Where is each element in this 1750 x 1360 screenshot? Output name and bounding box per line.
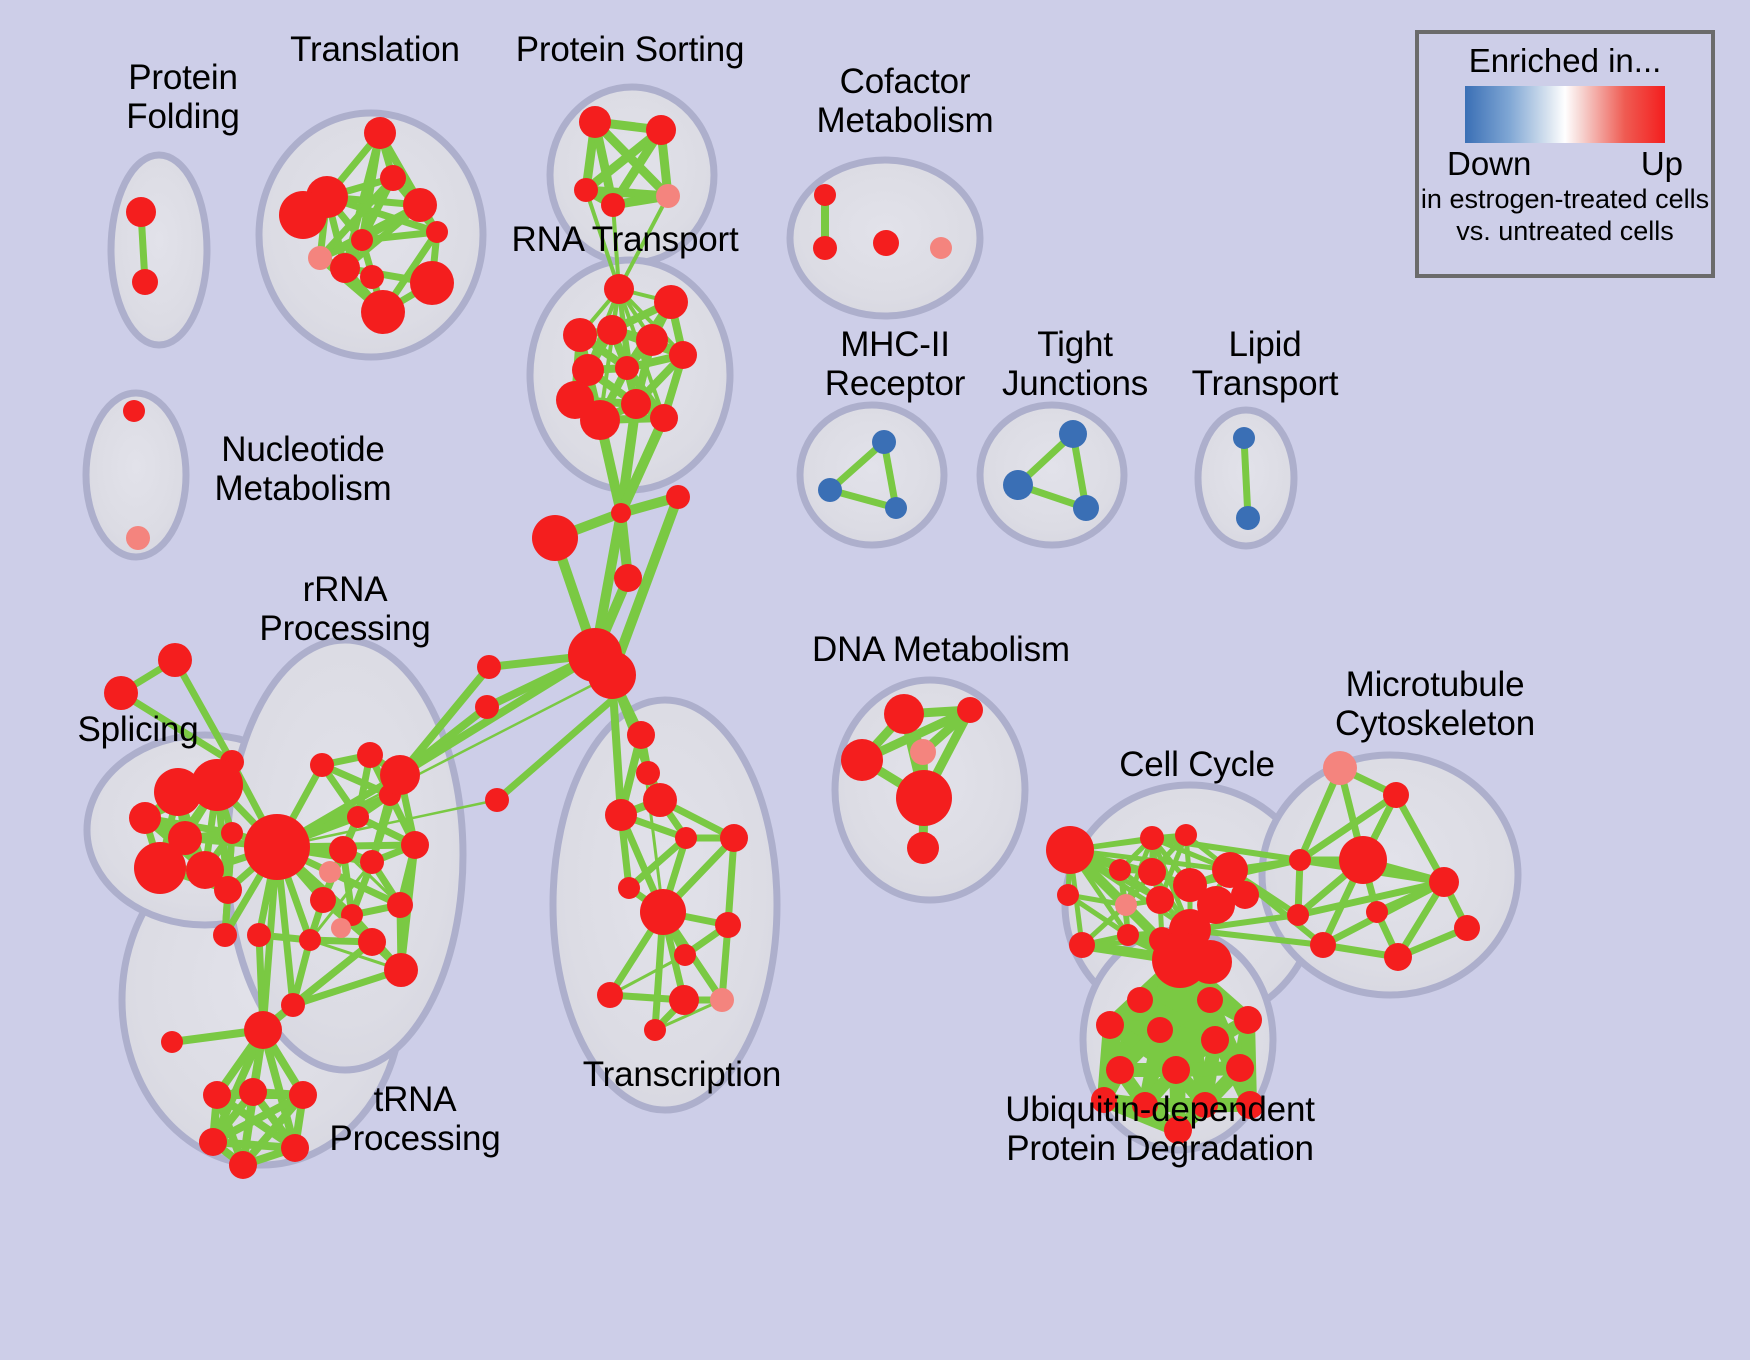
node (1003, 470, 1033, 500)
node (1106, 1056, 1134, 1084)
node (384, 953, 418, 987)
hull-protein-folding (111, 155, 207, 345)
node (403, 188, 437, 222)
cluster-label-protein-sorting: Protein Sorting (505, 30, 755, 69)
node (884, 694, 924, 734)
cluster-label-cell-cycle: Cell Cycle (1102, 745, 1292, 784)
node (604, 274, 634, 304)
node (485, 788, 509, 812)
node (1138, 858, 1166, 886)
node (644, 1019, 666, 1041)
node (841, 739, 883, 781)
node (636, 324, 668, 356)
node (627, 721, 655, 749)
node (1175, 824, 1197, 846)
cluster-label-mhc-ii-receptor: MHC-II Receptor (795, 325, 995, 403)
node (580, 400, 620, 440)
node (310, 753, 334, 777)
node (715, 912, 741, 938)
node (475, 695, 499, 719)
node (656, 184, 680, 208)
cluster-label-tight-junctions: Tight Junctions (975, 325, 1175, 403)
node (351, 229, 373, 251)
node (814, 184, 836, 206)
node (360, 265, 384, 289)
node (410, 261, 454, 305)
node (244, 1011, 282, 1049)
node (1366, 901, 1388, 923)
node (1234, 1006, 1262, 1034)
node (319, 861, 341, 883)
node (818, 478, 842, 502)
node (618, 877, 640, 899)
node (158, 643, 192, 677)
node (1147, 1017, 1173, 1043)
node (885, 497, 907, 519)
node (1429, 867, 1459, 897)
node (360, 850, 384, 874)
legend-color-gradient-bar (1465, 86, 1665, 143)
node (310, 887, 336, 913)
node (605, 799, 637, 831)
node (380, 755, 420, 795)
cluster-label-nucleotide-metabolism: Nucleotide Metabolism (193, 430, 413, 508)
node (247, 923, 271, 947)
node (129, 802, 161, 834)
node (872, 430, 896, 454)
cluster-label-ubiquitin-protein-degradation: Ubiquitin-dependent Protein Degradation (995, 1090, 1325, 1168)
cluster-label-rna-transport: RNA Transport (500, 220, 750, 259)
node (330, 253, 360, 283)
node (161, 1031, 183, 1053)
hull-mhc-ii-receptor (800, 405, 944, 545)
node (104, 676, 138, 710)
cluster-label-dna-metabolism: DNA Metabolism (812, 630, 1062, 669)
cluster-label-microtubule-cytoskeleton: Microtubule Cytoskeleton (1300, 665, 1570, 743)
node (1233, 427, 1255, 449)
node (1162, 1056, 1190, 1084)
node (214, 876, 242, 904)
legend-subtitle-line2: vs. untreated cells (1456, 216, 1674, 247)
legend-box: Enriched in... Down Up in estrogen-treat… (1415, 30, 1715, 278)
node (1146, 886, 1174, 914)
node (347, 806, 369, 828)
node (588, 651, 636, 699)
node (1109, 859, 1131, 881)
node (666, 485, 690, 509)
node (813, 236, 837, 260)
node (1201, 1026, 1229, 1054)
node (1059, 420, 1087, 448)
node (361, 290, 405, 334)
cluster-label-translation: Translation (280, 30, 470, 69)
node (364, 117, 396, 149)
node (477, 655, 501, 679)
node (329, 836, 357, 864)
node (646, 115, 676, 145)
node (1236, 506, 1260, 530)
node (675, 827, 697, 849)
node (380, 165, 406, 191)
node (720, 824, 748, 852)
node (1226, 1054, 1254, 1082)
cluster-label-trna-processing: tRNA Processing (305, 1080, 525, 1158)
cluster-label-protein-folding: Protein Folding (83, 58, 283, 136)
node (930, 237, 952, 259)
legend-low-label: Down (1447, 145, 1531, 183)
node (615, 356, 639, 380)
node (221, 822, 243, 844)
node (1323, 751, 1357, 785)
node (239, 1078, 267, 1106)
hull-tight-junctions (980, 405, 1124, 545)
legend-high-label: Up (1641, 145, 1683, 183)
node (387, 892, 413, 918)
node (957, 697, 983, 723)
node (126, 197, 156, 227)
node (640, 889, 686, 935)
node (532, 515, 578, 561)
node (123, 400, 145, 422)
node (873, 230, 899, 256)
legend-endpoint-labels: Down Up (1447, 145, 1683, 183)
node (281, 993, 305, 1017)
node (907, 832, 939, 864)
cluster-label-cofactor-metabolism: Cofactor Metabolism (790, 62, 1020, 140)
cluster-label-lipid-transport: Lipid Transport (1165, 325, 1365, 403)
node (1127, 987, 1153, 1013)
legend-subtitle-line1: in estrogen-treated cells (1421, 184, 1709, 215)
node (896, 770, 952, 826)
node (126, 526, 150, 550)
node (203, 1081, 231, 1109)
node (1197, 987, 1223, 1013)
cluster-label-splicing: Splicing (58, 710, 218, 749)
node (358, 928, 386, 956)
legend-title: Enriched in... (1469, 42, 1662, 80)
node (279, 191, 327, 239)
node (1310, 932, 1336, 958)
node (1073, 495, 1099, 521)
node (244, 814, 310, 880)
node (1117, 924, 1139, 946)
node (357, 742, 383, 768)
node (1069, 932, 1095, 958)
node (910, 739, 936, 765)
node (426, 221, 448, 243)
node (1384, 943, 1412, 971)
node (191, 759, 243, 811)
node (299, 929, 321, 951)
node (1188, 940, 1232, 984)
node (614, 564, 642, 592)
node (654, 285, 688, 319)
node (597, 315, 627, 345)
node (669, 985, 699, 1015)
node (611, 503, 631, 523)
node (574, 178, 598, 202)
node (1140, 826, 1164, 850)
node (308, 246, 332, 270)
node (1339, 836, 1387, 884)
node (710, 988, 734, 1012)
cluster-label-transcription: Transcription (572, 1055, 792, 1094)
node (674, 944, 696, 966)
node (601, 193, 625, 217)
node (1289, 849, 1311, 871)
node (1115, 894, 1137, 916)
node (621, 389, 651, 419)
node (1383, 782, 1409, 808)
node (1287, 904, 1309, 926)
node (1197, 886, 1235, 924)
node (643, 783, 677, 817)
cluster-label-rrna-processing: rRNA Processing (245, 570, 445, 648)
node (1046, 826, 1094, 874)
node (229, 1151, 257, 1179)
node (331, 918, 351, 938)
node (669, 341, 697, 369)
node (401, 831, 429, 859)
node (579, 106, 611, 138)
node (1454, 915, 1480, 941)
node (597, 982, 623, 1008)
node (1096, 1011, 1124, 1039)
node (563, 318, 597, 352)
node (1057, 884, 1079, 906)
network-figure: Protein Folding Translation Protein Sort… (0, 0, 1750, 1360)
node (134, 842, 186, 894)
node (199, 1128, 227, 1156)
node (650, 404, 678, 432)
node (1231, 881, 1259, 909)
node (636, 761, 660, 785)
node (132, 269, 158, 295)
node (213, 923, 237, 947)
